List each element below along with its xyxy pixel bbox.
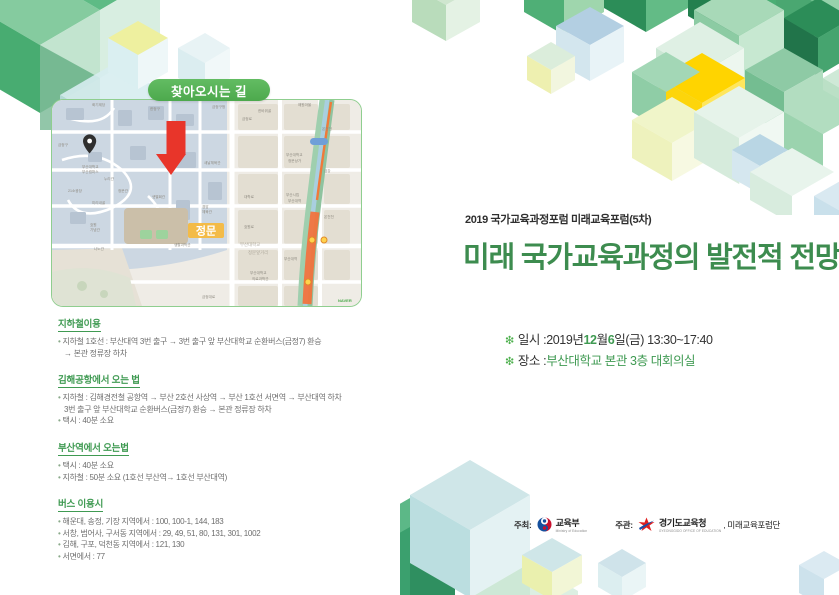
svg-text:21소광장: 21소광장	[68, 188, 83, 193]
organizer-block: 주관: 경기도교육청 GYEONGGIDO OFFICE OF EDUCATIO…	[615, 516, 780, 533]
event-date-label: 일시 :	[518, 330, 546, 351]
svg-text:금강: 금강	[324, 168, 331, 173]
svg-text:온천천: 온천천	[324, 214, 334, 219]
svg-text:나노관: 나노관	[94, 246, 105, 251]
forum-eyebrow: 2019 국가교육과정포럼 미래교육포럼(5차)	[465, 211, 651, 227]
directions-line-text: 김해, 구포, 덕천동 지역에서 : 121, 130	[63, 540, 185, 549]
svg-text:효원로: 효원로	[244, 224, 255, 229]
svg-text:부산대학교: 부산대학교	[286, 152, 303, 157]
organizer-name-sub: GYEONGGIDO OFFICE OF EDUCATION	[659, 530, 721, 533]
svg-text:의료과학관: 의료과학관	[252, 276, 269, 281]
map-attribution: NAVER	[338, 298, 352, 303]
bullet-icon: •	[58, 473, 61, 482]
svg-text:화기제당: 화기제당	[92, 102, 106, 107]
svg-text:금정대로: 금정대로	[202, 294, 216, 299]
directions-group: 지하철이용 •지하철 1호선 : 부산대역 3번 출구 → 3번 출구 앞 부산…	[58, 314, 388, 359]
svg-text:체육관: 체육관	[202, 209, 213, 214]
red-star-icon	[638, 517, 655, 532]
bullet-icon: •	[58, 552, 61, 561]
directions-line: •지하철 1호선 : 부산대역 3번 출구 → 3번 출구 앞 부산대학교 순환…	[58, 336, 388, 348]
svg-text:정문상가: 정문상가	[288, 158, 302, 163]
poster-canvas: 찾아오시는 길	[0, 0, 839, 595]
svg-text:생활과학관: 생활과학관	[174, 242, 191, 247]
svg-text:한정구: 한정구	[150, 106, 161, 111]
bullet-icon: •	[58, 517, 61, 526]
organizer-name-block: 경기도교육청 GYEONGGIDO OFFICE OF EDUCATION	[659, 516, 721, 533]
svg-text:경암: 경암	[202, 204, 209, 209]
directions-line: → 본관 정류장 하차	[58, 348, 388, 360]
svg-text:부산대역: 부산대역	[288, 198, 301, 203]
bullet-icon: •	[58, 393, 61, 402]
svg-text:정문앞거리: 정문앞거리	[248, 249, 268, 256]
svg-text:금정구: 금정구	[58, 142, 69, 147]
directions-line: •김해, 구포, 덕천동 지역에서 : 121, 130	[58, 539, 388, 551]
bullet-icon: •	[58, 540, 61, 549]
clover-bullet-icon: ❇	[505, 353, 514, 371]
svg-text:해원마을: 해원마을	[298, 102, 312, 107]
directions-group: 김해공항에서 오는 법 •지하철 : 김해경전철 공항역 → 부산 2호선 사상…	[58, 370, 388, 427]
directions-line: •서창, 범어사, 구서동 지역에서 : 29, 49, 51, 80, 131…	[58, 528, 388, 540]
event-place-row: ❇ 장소 : 부산대학교 본관 3층 대회의실	[505, 351, 713, 372]
svg-text:온천천: 온천천	[322, 126, 332, 131]
directions-line-text: 서면에서 : 77	[63, 552, 105, 561]
directions-line: •서면에서 : 77	[58, 551, 388, 563]
korea-government-taegeuk-icon	[537, 517, 552, 532]
host-name-sub: Ministry of Education	[556, 530, 588, 533]
svg-text:부산대학교: 부산대학교	[82, 164, 99, 169]
svg-text:부산대역: 부산대역	[284, 256, 297, 261]
directions-line-text: 지하철 1호선 : 부산대역 3번 출구 → 3번 출구 앞 부산대학교 순환버…	[63, 337, 322, 346]
svg-text:한바위골: 한바위골	[258, 108, 272, 113]
directions-group: 버스 이용시 •해운대, 송정, 기장 지역에서 : 100, 100-1, 1…	[58, 494, 388, 562]
map-section-badge-label: 찾아오시는 길	[171, 81, 247, 100]
directions-heading: 지하철이용	[58, 316, 101, 332]
map-section-badge: 찾아오시는 길	[148, 79, 270, 101]
gate-label: 정문	[188, 223, 224, 238]
svg-text:정문: 정문	[196, 224, 216, 238]
event-place-value: 부산대학교 본관 3층 대회의실	[546, 351, 695, 372]
directions-line-text: 해운대, 송정, 기장 지역에서 : 100, 100-1, 144, 183	[63, 517, 224, 526]
svg-text:부산대학교: 부산대학교	[240, 241, 260, 248]
organizer-name: 경기도교육청	[659, 516, 721, 529]
directions-line-text: 택시 : 40분 소요	[63, 416, 114, 425]
directions-line-text: 지하철 : 김해경전철 공항역 → 부산 2호선 사상역 → 부산 1호선 서면…	[63, 393, 342, 402]
directions-line: •택시 : 40분 소요	[58, 415, 388, 427]
directions-line: •지하철 : 김해경전철 공항역 → 부산 2호선 사상역 → 부산 1호선 서…	[58, 392, 388, 404]
sponsor-bar: 주최: 교육부 Ministry of Education	[514, 516, 780, 533]
map-canvas: 정문 화기제당 한정구 금정구청 한바위골 해원마을 금정구 부산대학교 부산캠…	[52, 100, 361, 306]
directions-heading: 부산역에서 오는법	[58, 440, 129, 456]
event-date-time: (금) 13:30~17:40	[625, 330, 712, 351]
right-column: 2019 국가교육과정포럼 미래교육포럼(5차) 미래 국가교육과정의 발전적 …	[460, 0, 839, 595]
directions-line-text: 서창, 범어사, 구서동 지역에서 : 29, 49, 51, 80, 131,…	[63, 529, 261, 538]
clover-bullet-icon: ❇	[505, 332, 514, 350]
organizer-label: 주관:	[615, 519, 633, 531]
svg-text:샛별회관: 샛별회관	[152, 194, 166, 199]
svg-text:금정구청: 금정구청	[212, 104, 225, 109]
organizer-tail: , 미래교육포럼단	[723, 519, 780, 531]
directions-heading: 버스 이용시	[58, 496, 103, 512]
directions-list: 지하철이용 •지하철 1호선 : 부산대역 3번 출구 → 3번 출구 앞 부산…	[58, 314, 388, 574]
left-column: 찾아오시는 길	[0, 0, 400, 595]
page-title: 미래 국가교육과정의 발전적 전망	[463, 234, 839, 276]
directions-line: •해운대, 송정, 기장 지역에서 : 100, 100-1, 144, 183	[58, 516, 388, 528]
bullet-icon: •	[58, 337, 61, 346]
svg-text:미리내골: 미리내골	[92, 200, 106, 205]
svg-text:기념관: 기념관	[90, 227, 101, 232]
directions-line-text: 3번 출구 앞 부산대학교 순환버스(금정7) 환승 → 본관 정류장 하차	[64, 405, 271, 414]
directions-line: •택시 : 40분 소요	[58, 460, 388, 472]
bullet-icon: •	[58, 461, 61, 470]
directions-heading: 김해공항에서 오는 법	[58, 372, 140, 388]
directions-group: 부산역에서 오는법 •택시 : 40분 소요 •지하철 : 50분 소요 (1호…	[58, 438, 388, 483]
directions-line-text: → 본관 정류장 하차	[64, 349, 127, 358]
event-place-label: 장소 :	[518, 351, 546, 372]
directions-line-text: 택시 : 40분 소요	[63, 461, 114, 470]
bullet-icon: •	[58, 529, 61, 538]
svg-text:정문관: 정문관	[118, 188, 129, 193]
event-date-year: 2019년	[546, 330, 583, 351]
host-block: 주최: 교육부 Ministry of Education	[514, 516, 587, 533]
svg-text:부산캠퍼스: 부산캠퍼스	[82, 169, 99, 174]
svg-text:부산대학교: 부산대학교	[250, 270, 267, 275]
svg-text:누리관: 누리관	[104, 176, 115, 181]
event-date-day-unit: 일	[614, 330, 625, 351]
svg-text:금정로: 금정로	[242, 116, 253, 121]
svg-text:부산시립: 부산시립	[286, 192, 299, 197]
bullet-icon: •	[58, 416, 61, 425]
svg-text:대학로: 대학로	[244, 194, 255, 199]
event-date-month: 12	[584, 330, 597, 351]
directions-line: •지하철 : 50분 소요 (1호선 부산역→ 1호선 부산대역)	[58, 472, 388, 484]
event-date-month-unit: 월	[597, 330, 608, 351]
event-info: ❇ 일시 : 2019년 12 월 6 일 (금) 13:30~17:40 ❇ …	[505, 330, 713, 371]
svg-text:효원: 효원	[90, 222, 97, 227]
event-date-row: ❇ 일시 : 2019년 12 월 6 일 (금) 13:30~17:40	[505, 330, 713, 351]
host-name-block: 교육부 Ministry of Education	[556, 516, 588, 533]
host-label: 주최:	[514, 519, 532, 531]
host-name: 교육부	[556, 516, 588, 529]
svg-text:새날체육관: 새날체육관	[204, 160, 221, 165]
location-map[interactable]: 정문 화기제당 한정구 금정구청 한바위골 해원마을 금정구 부산대학교 부산캠…	[51, 99, 362, 307]
directions-line: 3번 출구 앞 부산대학교 순환버스(금정7) 환승 → 본관 정류장 하차	[58, 404, 388, 416]
directions-line-text: 지하철 : 50분 소요 (1호선 부산역→ 1호선 부산대역)	[63, 473, 227, 482]
